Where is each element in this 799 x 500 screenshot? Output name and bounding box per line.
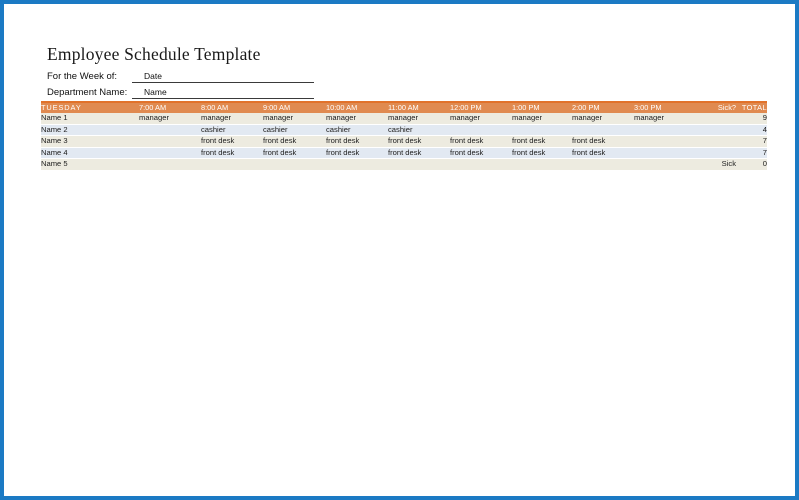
- shift-cell[interactable]: manager: [201, 113, 263, 124]
- page-border: Employee Schedule Template For the Week …: [0, 0, 799, 500]
- shift-cell[interactable]: [139, 136, 201, 148]
- shift-cell[interactable]: front desk: [388, 147, 450, 159]
- shift-cell[interactable]: [388, 159, 450, 171]
- shift-cell[interactable]: [572, 159, 634, 171]
- shift-cell[interactable]: manager: [450, 113, 512, 124]
- document-sheet: Employee Schedule Template For the Week …: [4, 4, 795, 496]
- employee-name-cell[interactable]: Name 2: [41, 124, 139, 136]
- shift-cell[interactable]: manager: [388, 113, 450, 124]
- employee-name-cell[interactable]: Name 1: [41, 113, 139, 124]
- shift-cell[interactable]: [450, 159, 512, 171]
- department-name-field[interactable]: Name: [132, 86, 314, 99]
- sick-cell[interactable]: [696, 113, 736, 124]
- total-cell: 9: [736, 113, 767, 124]
- column-header-hour[interactable]: 8:00 AM: [201, 103, 263, 114]
- total-cell: 4: [736, 124, 767, 136]
- shift-cell[interactable]: [139, 159, 201, 171]
- sick-cell[interactable]: [696, 136, 736, 148]
- shift-cell[interactable]: front desk: [388, 136, 450, 148]
- shift-cell[interactable]: [263, 159, 326, 171]
- shift-cell[interactable]: front desk: [263, 136, 326, 148]
- employee-name-cell[interactable]: Name 3: [41, 136, 139, 148]
- shift-cell[interactable]: [201, 159, 263, 171]
- shift-cell[interactable]: [634, 124, 696, 136]
- total-cell: 7: [736, 147, 767, 159]
- table-row[interactable]: Name 1managermanagermanagermanagermanage…: [41, 113, 767, 124]
- shift-cell[interactable]: [572, 124, 634, 136]
- schedule-table: TUESDAY7:00 AM8:00 AM9:00 AM10:00 AM11:0…: [41, 103, 767, 172]
- page-title: Employee Schedule Template: [47, 44, 767, 64]
- shift-cell[interactable]: cashier: [201, 124, 263, 136]
- shift-cell[interactable]: manager: [139, 113, 201, 124]
- column-header-hour[interactable]: 3:00 PM: [634, 103, 696, 114]
- sick-cell[interactable]: [696, 124, 736, 136]
- shift-cell[interactable]: front desk: [263, 147, 326, 159]
- shift-cell[interactable]: [326, 159, 388, 171]
- shift-cell[interactable]: [634, 136, 696, 148]
- schedule-table-container: TUESDAY7:00 AM8:00 AM9:00 AM10:00 AM11:0…: [41, 101, 767, 171]
- shift-cell[interactable]: [450, 124, 512, 136]
- shift-cell[interactable]: front desk: [450, 136, 512, 148]
- table-body: Name 1managermanagermanagermanagermanage…: [41, 113, 767, 170]
- table-row[interactable]: Name 4front deskfront deskfront deskfron…: [41, 147, 767, 159]
- column-header-hour[interactable]: 9:00 AM: [263, 103, 326, 114]
- shift-cell[interactable]: manager: [572, 113, 634, 124]
- form-row-department-name: Department Name: Name: [47, 85, 767, 99]
- table-row[interactable]: Name 2cashiercashiercashiercashier4: [41, 124, 767, 136]
- column-header-hour[interactable]: 11:00 AM: [388, 103, 450, 114]
- column-header-hour[interactable]: 10:00 AM: [326, 103, 388, 114]
- shift-cell[interactable]: front desk: [572, 136, 634, 148]
- shift-cell[interactable]: front desk: [572, 147, 634, 159]
- shift-cell[interactable]: manager: [512, 113, 572, 124]
- shift-cell[interactable]: [512, 159, 572, 171]
- shift-cell[interactable]: manager: [326, 113, 388, 124]
- employee-name-cell[interactable]: Name 5: [41, 159, 139, 171]
- sick-cell[interactable]: [696, 147, 736, 159]
- total-cell: 7: [736, 136, 767, 148]
- form-row-week-of: For the Week of: Date: [47, 69, 767, 83]
- shift-cell[interactable]: [634, 147, 696, 159]
- column-header-hour[interactable]: 2:00 PM: [572, 103, 634, 114]
- column-header-hour[interactable]: 12:00 PM: [450, 103, 512, 114]
- shift-cell[interactable]: manager: [263, 113, 326, 124]
- shift-cell[interactable]: front desk: [450, 147, 512, 159]
- table-row[interactable]: Name 5Sick0: [41, 159, 767, 171]
- shift-cell[interactable]: [139, 147, 201, 159]
- shift-cell[interactable]: front desk: [201, 147, 263, 159]
- week-of-field[interactable]: Date: [132, 70, 314, 83]
- department-name-label: Department Name:: [47, 87, 132, 99]
- shift-cell[interactable]: cashier: [263, 124, 326, 136]
- column-header-hour[interactable]: 7:00 AM: [139, 103, 201, 114]
- sick-cell[interactable]: Sick: [696, 159, 736, 171]
- week-of-label: For the Week of:: [47, 71, 132, 83]
- shift-cell[interactable]: front desk: [201, 136, 263, 148]
- shift-cell[interactable]: front desk: [512, 136, 572, 148]
- shift-cell[interactable]: [634, 159, 696, 171]
- shift-cell[interactable]: cashier: [326, 124, 388, 136]
- total-cell: 0: [736, 159, 767, 171]
- column-header-hour[interactable]: 1:00 PM: [512, 103, 572, 114]
- shift-cell[interactable]: front desk: [326, 147, 388, 159]
- document-header: Employee Schedule Template For the Week …: [47, 44, 767, 99]
- employee-name-cell[interactable]: Name 4: [41, 147, 139, 159]
- table-row[interactable]: Name 3front deskfront deskfront deskfron…: [41, 136, 767, 148]
- column-header-sick[interactable]: Sick?: [696, 103, 736, 114]
- column-header-total[interactable]: TOTAL: [736, 103, 767, 114]
- column-header-day[interactable]: TUESDAY: [41, 103, 139, 114]
- table-header-row: TUESDAY7:00 AM8:00 AM9:00 AM10:00 AM11:0…: [41, 103, 767, 114]
- shift-cell[interactable]: manager: [634, 113, 696, 124]
- shift-cell[interactable]: front desk: [326, 136, 388, 148]
- shift-cell[interactable]: front desk: [512, 147, 572, 159]
- shift-cell[interactable]: cashier: [388, 124, 450, 136]
- shift-cell[interactable]: [139, 124, 201, 136]
- shift-cell[interactable]: [512, 124, 572, 136]
